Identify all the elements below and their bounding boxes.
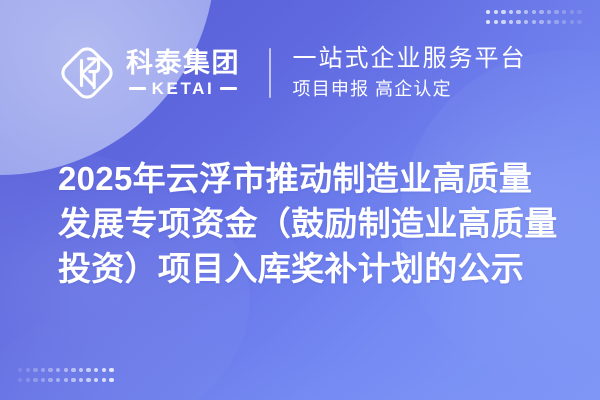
decorative-dot bbox=[562, 10, 566, 14]
decorative-dot bbox=[577, 20, 581, 24]
decorative-dot bbox=[33, 368, 37, 372]
decorative-dot bbox=[33, 378, 37, 382]
decorative-dot bbox=[48, 368, 52, 372]
decorative-dot bbox=[94, 378, 98, 382]
decorative-dot bbox=[570, 20, 574, 24]
decorative-dot bbox=[79, 368, 83, 372]
decorative-dot bbox=[109, 368, 113, 372]
decorative-dot bbox=[86, 368, 90, 372]
decorative-dot bbox=[56, 368, 60, 372]
decorative-dot bbox=[509, 10, 513, 14]
decorative-dot bbox=[102, 368, 106, 372]
decorative-dot bbox=[532, 10, 536, 14]
decorative-dot bbox=[516, 20, 520, 24]
brand-name-en: KETAI bbox=[152, 80, 215, 97]
brand-logo[interactable]: 科泰集团 KETAI bbox=[58, 44, 240, 102]
decorative-dot bbox=[547, 20, 551, 24]
decorative-dot bbox=[501, 20, 505, 24]
brand-name-cn: 科泰集团 bbox=[126, 49, 240, 77]
decorative-dot bbox=[64, 378, 68, 382]
logo-rule-left-icon bbox=[129, 87, 146, 90]
decorative-dot bbox=[48, 378, 52, 382]
dot-grid-top-right bbox=[486, 10, 585, 30]
tagline-secondary: 项目申报 高企认定 bbox=[293, 78, 527, 101]
announcement-title: 2025年云浮市推动制造业高质量发展专项资金（鼓励制造业高质量投资）项目入库奖补… bbox=[58, 156, 558, 291]
decorative-dot bbox=[26, 378, 30, 382]
brand-name-en-row: KETAI bbox=[129, 80, 238, 97]
decorative-dot bbox=[516, 10, 520, 14]
decorative-dot bbox=[524, 10, 528, 14]
decorative-dot bbox=[554, 10, 558, 14]
decorative-dot bbox=[494, 20, 498, 24]
decorative-dot bbox=[554, 20, 558, 24]
decorative-dot bbox=[18, 368, 22, 372]
decorative-dot bbox=[539, 10, 543, 14]
decorative-dot bbox=[102, 378, 106, 382]
decorative-dot bbox=[79, 378, 83, 382]
decorative-dot bbox=[577, 10, 581, 14]
decorative-dot bbox=[94, 368, 98, 372]
header-divider bbox=[269, 48, 271, 98]
decorative-dot bbox=[41, 378, 45, 382]
decorative-dot bbox=[71, 378, 75, 382]
decorative-dot bbox=[570, 10, 574, 14]
decorative-dot bbox=[64, 368, 68, 372]
brand-logo-text: 科泰集团 KETAI bbox=[126, 49, 240, 97]
decorative-dot bbox=[547, 10, 551, 14]
decorative-dot bbox=[18, 378, 22, 382]
logo-rule-right-icon bbox=[220, 87, 237, 90]
decorative-dot bbox=[486, 20, 490, 24]
decorative-dot bbox=[71, 368, 75, 372]
decorative-dot bbox=[486, 10, 490, 14]
decorative-dot bbox=[86, 378, 90, 382]
decorative-dot bbox=[26, 368, 30, 372]
decorative-dot bbox=[509, 20, 513, 24]
decorative-dot bbox=[562, 20, 566, 24]
ketai-kp-monogram-icon bbox=[58, 44, 116, 102]
decorative-dot bbox=[501, 10, 505, 14]
dot-grid-bottom-left bbox=[18, 368, 117, 388]
announcement-banner: 科泰集团 KETAI 一站式企业服务平台 项目申报 高企认定 2025年云浮市推… bbox=[0, 0, 600, 400]
decorative-dot bbox=[109, 378, 113, 382]
brand-tagline: 一站式企业服务平台 项目申报 高企认定 bbox=[293, 45, 527, 101]
decorative-dot bbox=[532, 20, 536, 24]
banner-header: 科泰集团 KETAI 一站式企业服务平台 项目申报 高企认定 bbox=[0, 36, 600, 110]
tagline-primary: 一站式企业服务平台 bbox=[293, 45, 527, 73]
decorative-dot bbox=[524, 20, 528, 24]
decorative-dot bbox=[56, 378, 60, 382]
decorative-dot bbox=[539, 20, 543, 24]
decorative-dot bbox=[41, 368, 45, 372]
decorative-dot bbox=[494, 10, 498, 14]
